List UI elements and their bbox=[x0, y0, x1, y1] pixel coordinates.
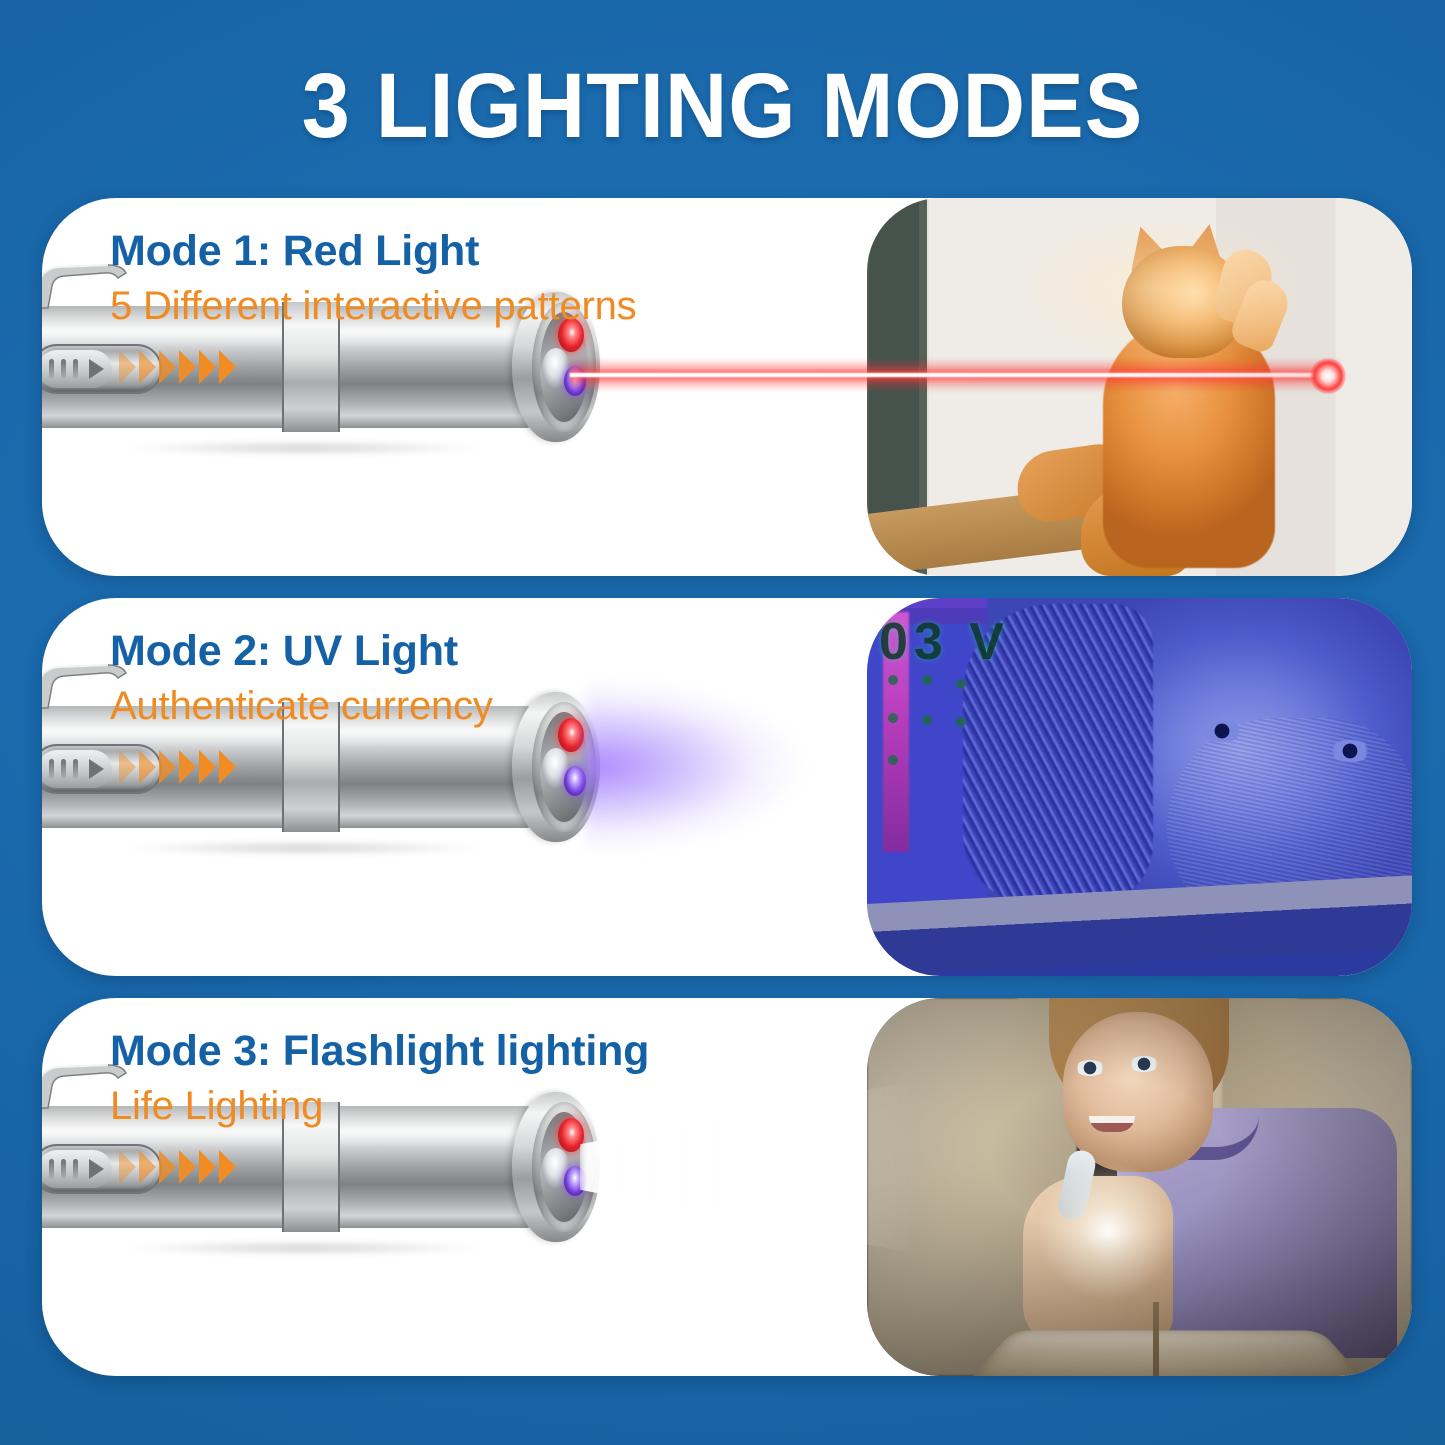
knob-ridge bbox=[73, 359, 78, 379]
switch-knob[interactable] bbox=[42, 1150, 112, 1188]
banknote-eye-left bbox=[1199, 720, 1245, 742]
mode-3-subtitle: Life Lighting bbox=[110, 1082, 649, 1131]
play-triangle-icon bbox=[89, 759, 104, 779]
chevron-right-icon bbox=[199, 350, 216, 384]
uv-banknote-photo: 03 V bbox=[867, 598, 1412, 976]
mode-card-3[interactable]: Mode 3: Flashlight lighting Life Lightin… bbox=[42, 998, 1412, 1376]
knob-ridge bbox=[61, 359, 66, 379]
chevron-right-icon bbox=[199, 750, 216, 784]
chevron-right-icon bbox=[119, 350, 136, 384]
red-laser-led bbox=[558, 718, 584, 752]
banknote-serial-text: 03 V bbox=[879, 612, 1010, 672]
device-shadow bbox=[54, 438, 554, 458]
mode-2-text-block: Mode 2: UV Light Authenticate currency bbox=[110, 626, 493, 731]
chevron-right-icon bbox=[139, 1150, 156, 1184]
chevron-right-icon bbox=[139, 350, 156, 384]
knob-ridge bbox=[73, 759, 78, 779]
infographic-root: 3 LIGHTING MODES bbox=[0, 0, 1445, 1445]
chevron-right-icon bbox=[139, 750, 156, 784]
uv-violet-glow bbox=[584, 676, 914, 856]
cat-chasing-laser-photo bbox=[867, 198, 1412, 576]
chevron-right-icon bbox=[179, 1150, 196, 1184]
knob-ridge bbox=[49, 359, 54, 379]
chevron-right-icon bbox=[219, 750, 236, 784]
knob-ridge bbox=[49, 759, 54, 779]
chevron-right-icon-group bbox=[119, 750, 236, 784]
mode-3-text-block: Mode 3: Flashlight lighting Life Lightin… bbox=[110, 1026, 649, 1131]
mode-2-title: Mode 2: UV Light bbox=[110, 626, 493, 677]
knob-ridge bbox=[73, 1159, 78, 1179]
play-triangle-icon bbox=[89, 1159, 104, 1179]
banknote-eye-right bbox=[1327, 740, 1373, 762]
device-shadow bbox=[54, 1238, 554, 1258]
page-title: 3 LIGHTING MODES bbox=[43, 60, 1401, 152]
uv-purple-led bbox=[564, 766, 586, 796]
uv-purple-led bbox=[564, 366, 586, 396]
chevron-right-icon bbox=[219, 1150, 236, 1184]
switch-knob[interactable] bbox=[42, 750, 112, 788]
mode-1-title: Mode 1: Red Light bbox=[110, 226, 636, 277]
knob-ridge bbox=[49, 1159, 54, 1179]
banknote-lower-edge bbox=[867, 875, 1412, 976]
switch-knob[interactable] bbox=[42, 350, 112, 388]
mode-1-text-block: Mode 1: Red Light 5 Different interactiv… bbox=[110, 226, 636, 331]
chevron-right-icon bbox=[119, 1150, 136, 1184]
chevron-right-icon bbox=[159, 350, 176, 384]
mode-2-subtitle: Authenticate currency bbox=[110, 682, 493, 731]
chevron-right-icon-group bbox=[119, 1150, 236, 1184]
knob-ridge bbox=[61, 759, 66, 779]
mode-1-subtitle: 5 Different interactive patterns bbox=[110, 282, 636, 331]
chevron-right-icon-group bbox=[119, 350, 236, 384]
chevron-right-icon bbox=[219, 350, 236, 384]
knob-ridge bbox=[61, 1159, 66, 1179]
mode-card-1[interactable]: Mode 1: Red Light 5 Different interactiv… bbox=[42, 198, 1412, 576]
chevron-right-icon bbox=[179, 750, 196, 784]
chevron-right-icon bbox=[159, 1150, 176, 1184]
chevron-right-icon bbox=[119, 750, 136, 784]
mode-3-title: Mode 3: Flashlight lighting bbox=[110, 1026, 649, 1077]
chevron-right-icon bbox=[159, 750, 176, 784]
mode-card-2[interactable]: 03 V bbox=[42, 598, 1412, 976]
chevron-right-icon bbox=[199, 1150, 216, 1184]
photo-vignette bbox=[867, 998, 1412, 1376]
chevron-right-icon bbox=[179, 350, 196, 384]
device-shadow bbox=[54, 838, 554, 858]
girl-reading-under-blanket-photo bbox=[867, 998, 1412, 1376]
play-triangle-icon bbox=[89, 359, 104, 379]
